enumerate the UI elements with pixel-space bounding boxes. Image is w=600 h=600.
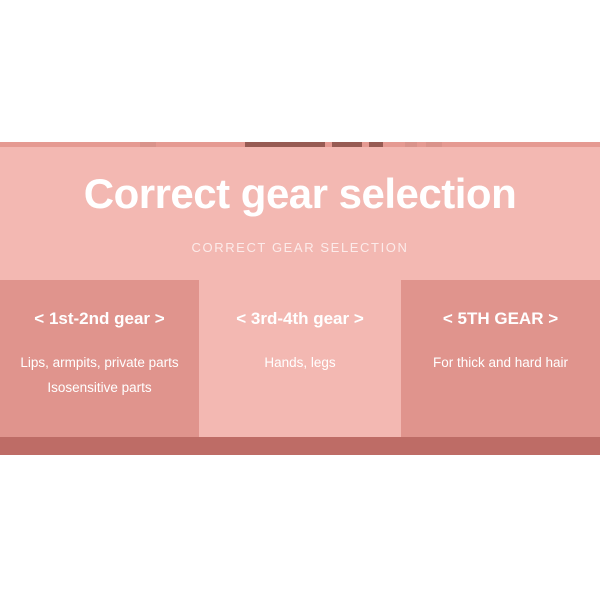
gear-column-title: < 3rd-4th gear >: [199, 310, 401, 327]
gear-columns: < 1st-2nd gear > Lips, armpits, private …: [0, 280, 600, 437]
gear-column-body: For thick and hard hair: [401, 350, 600, 375]
banner-header: Correct gear selection CORRECT GEAR SELE…: [0, 147, 600, 280]
gear-column-line: Isosensitive parts: [0, 375, 199, 400]
gear-column-body: Hands, legs: [199, 350, 401, 375]
gear-selection-banner: Correct gear selection CORRECT GEAR SELE…: [0, 142, 600, 455]
gear-column-5th: < 5TH GEAR > For thick and hard hair: [401, 280, 600, 437]
gear-column-3rd-4th: < 3rd-4th gear > Hands, legs: [199, 280, 401, 437]
page-title: Correct gear selection: [0, 173, 600, 215]
page-subtitle: CORRECT GEAR SELECTION: [0, 241, 600, 254]
gear-column-title: < 5TH GEAR >: [401, 310, 600, 327]
gear-column-body: Lips, armpits, private parts Isosensitiv…: [0, 350, 199, 400]
gear-column-line: For thick and hard hair: [401, 350, 600, 375]
gear-column-1st-2nd: < 1st-2nd gear > Lips, armpits, private …: [0, 280, 199, 437]
bottom-accent-band: [0, 437, 600, 455]
gear-column-title: < 1st-2nd gear >: [0, 310, 199, 327]
gear-column-line: Lips, armpits, private parts: [0, 350, 199, 375]
gear-column-line: Hands, legs: [199, 350, 401, 375]
